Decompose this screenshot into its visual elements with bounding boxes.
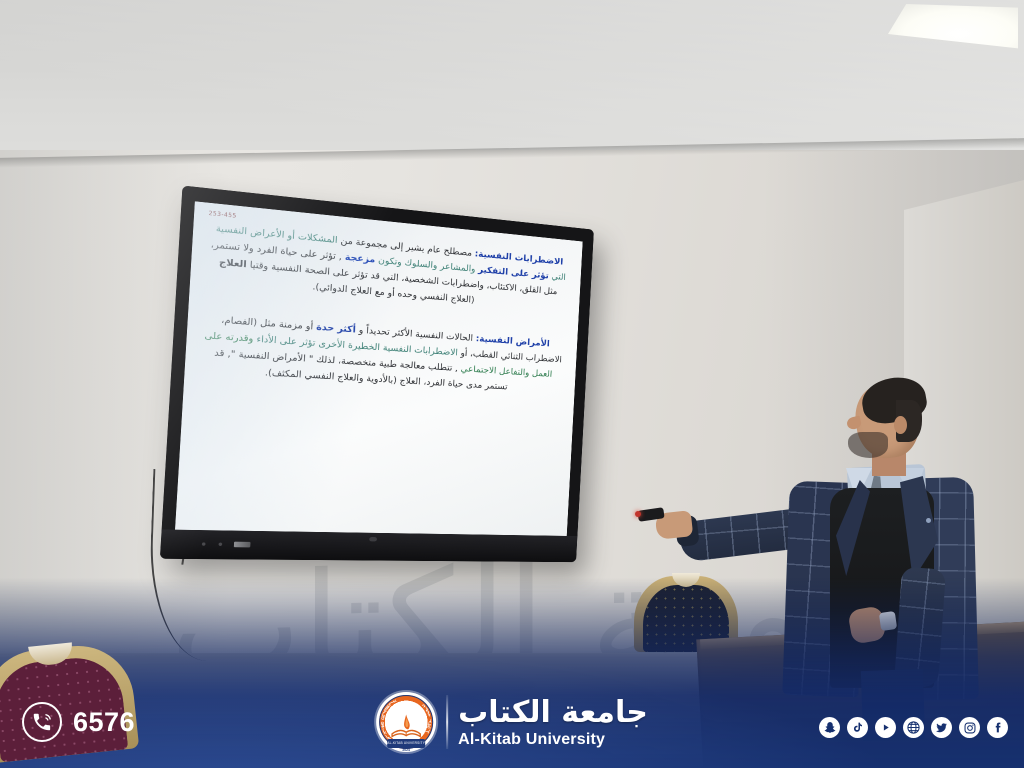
wristwatch-icon — [879, 611, 897, 631]
lecture-room-scene: جامعة الكتاب 253-455 الاضطرابات النفسية:… — [0, 0, 1024, 768]
brand-banner-content: 6576 AL-KITAB UNIVERSITYجامعة الكتاب — [0, 672, 1024, 768]
slide-text-run: تؤثر على التفكير — [478, 265, 549, 282]
seal-inner-disc — [387, 703, 425, 741]
book-and-flame-icon — [388, 711, 424, 741]
interactive-flat-panel[interactable]: 253-455 الاضطرابات النفسية: مصطلح عام يش… — [160, 185, 594, 562]
instagram-icon[interactable] — [959, 717, 980, 738]
slide-paragraph-1: الاضطرابات النفسية: مصطلح عام يشير إلى م… — [207, 221, 569, 316]
youtube-icon[interactable] — [875, 717, 896, 738]
slide-text-run: أكثر حدة — [316, 322, 356, 336]
university-logo-block: AL-KITAB UNIVERSITYجامعة الكتاب AL-KITAB… — [376, 692, 648, 752]
panel-ir-sensor-icon — [218, 543, 222, 546]
slide-page-mark: 253-455 — [208, 211, 236, 220]
contact-phone-block[interactable]: 6576 — [22, 702, 135, 742]
pointer-laser-led — [635, 511, 641, 517]
panel-led-indicator — [202, 542, 206, 545]
tiktok-icon[interactable] — [847, 717, 868, 738]
twitter-icon[interactable] — [931, 717, 952, 738]
slide-text-run: الأمراض النفسية: — [475, 334, 549, 350]
social-links-row[interactable] — [819, 717, 1008, 738]
logo-divider — [446, 695, 448, 749]
seal-ring-char-ar: ب — [424, 730, 430, 736]
university-name-english: Al-Kitab University — [458, 731, 648, 749]
presenter-lecturer — [690, 370, 990, 700]
lapel-pin-icon — [926, 518, 931, 523]
seal-banner-text: AL-KITAB UNIVERSITY — [387, 739, 425, 748]
seal-ring-char: Y — [392, 699, 398, 704]
seal-year: 2024 — [402, 748, 410, 752]
panel-remote-sensor-icon — [369, 537, 377, 541]
snapchat-icon[interactable] — [819, 717, 840, 738]
slide-text-run: مزعجة — [345, 252, 376, 265]
presentation-slide: 253-455 الاضطرابات النفسية: مصطلح عام يش… — [175, 201, 583, 536]
panel-screen[interactable]: 253-455 الاضطرابات النفسية: مصطلح عام يش… — [175, 201, 583, 536]
slide-paragraph-2: الأمراض النفسية: الحالات النفسية الأكثر … — [201, 312, 564, 399]
website-globe-icon[interactable] — [903, 717, 924, 738]
screenshot-root: جامعة الكتاب 253-455 الاضطرابات النفسية:… — [0, 0, 1024, 768]
seal-ring-char: B — [381, 721, 384, 726]
panel-chin-bar — [160, 529, 578, 562]
presenter-beard — [848, 432, 888, 458]
university-name-arabic: جامعة الكتاب — [458, 696, 648, 730]
slide-text-run: العلاج — [219, 257, 247, 270]
facebook-icon[interactable] — [987, 717, 1008, 738]
presenter-ear — [894, 416, 907, 434]
contact-phone-number: 6576 — [73, 707, 135, 738]
panel-button-strip[interactable] — [234, 542, 251, 548]
phone-ringing-icon — [22, 702, 62, 742]
university-name-group: جامعة الكتاب Al-Kitab University — [458, 696, 648, 749]
open-book-flame-seal-icon: AL-KITAB UNIVERSITYجامعة الكتاب AL-KITAB… — [376, 692, 436, 752]
